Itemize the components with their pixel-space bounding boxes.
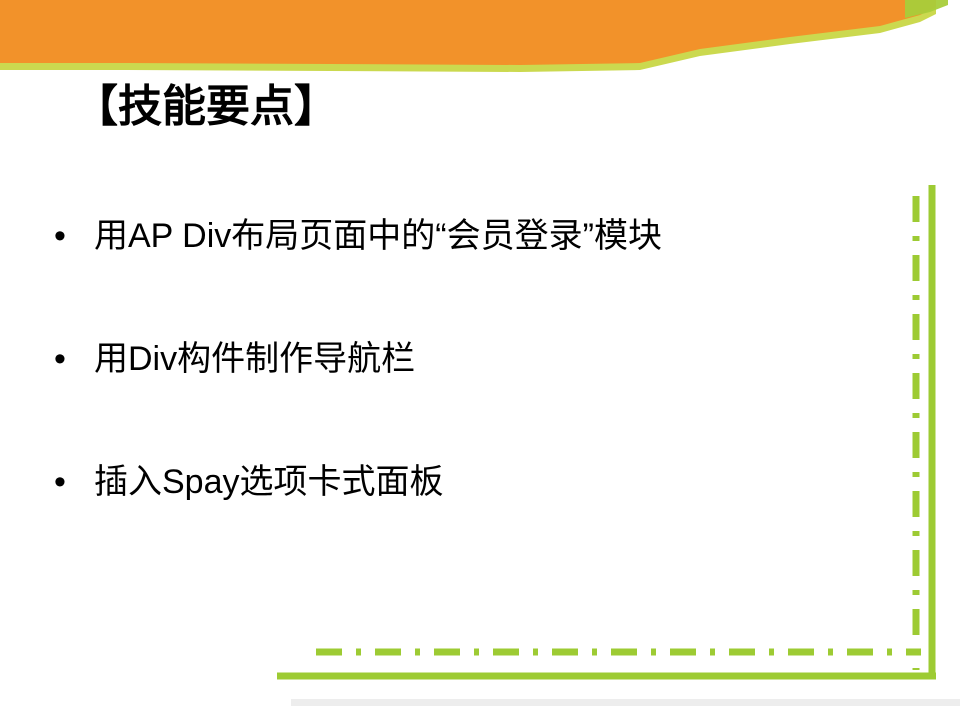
list-item: • 插入Spay选项卡式面板 [50, 454, 910, 577]
banner-green-edge [0, 0, 936, 72]
page-title: 【技能要点】 [74, 82, 338, 133]
list-item-label: 用Div构件制作导航栏 [94, 331, 910, 387]
bullet-dot-icon: • [50, 331, 94, 387]
bullet-list: • 用AP Div布局页面中的“会员登录”模块 • 用Div构件制作导航栏 • … [50, 208, 910, 577]
list-item: • 用Div构件制作导航栏 [50, 331, 910, 454]
bullet-dot-icon: • [50, 208, 94, 264]
bullet-dot-icon: • [50, 454, 94, 510]
banner-green-tip [905, 0, 948, 18]
orange-wave-banner [0, 0, 960, 90]
list-item: • 用AP Div布局页面中的“会员登录”模块 [50, 208, 910, 331]
banner-orange-body [0, 0, 936, 65]
bottom-divider [291, 699, 960, 706]
list-item-label: 插入Spay选项卡式面板 [94, 454, 910, 510]
list-item-label: 用AP Div布局页面中的“会员登录”模块 [94, 208, 910, 264]
slide-canvas: 【技能要点】 • 用AP Div布局页面中的“会员登录”模块 • 用Div构件制… [0, 0, 960, 720]
